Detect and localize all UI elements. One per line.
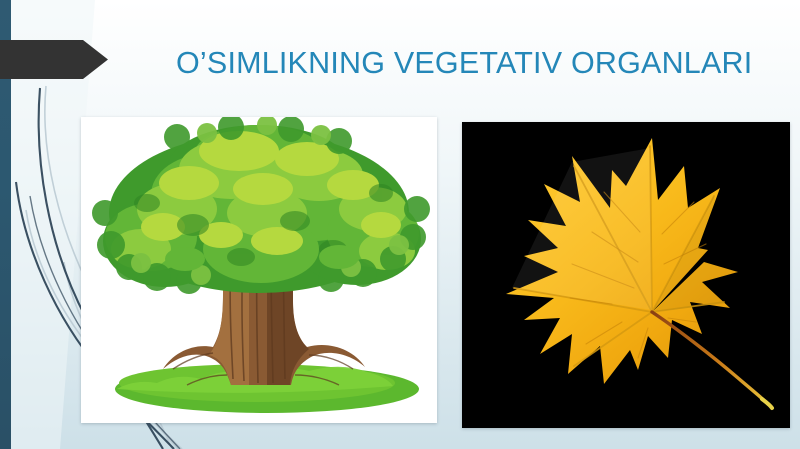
title-arrow-banner <box>0 40 108 79</box>
tree-illustration <box>81 117 437 423</box>
page-title: O’SIMLIKNING VEGETATIV ORGANLARI <box>176 43 776 83</box>
leaf-image-frame <box>462 122 790 428</box>
slide-canvas: O’SIMLIKNING VEGETATIV ORGANLARI <box>0 0 800 449</box>
tree-image-frame <box>81 117 437 423</box>
maple-leaf-photo <box>462 122 790 428</box>
